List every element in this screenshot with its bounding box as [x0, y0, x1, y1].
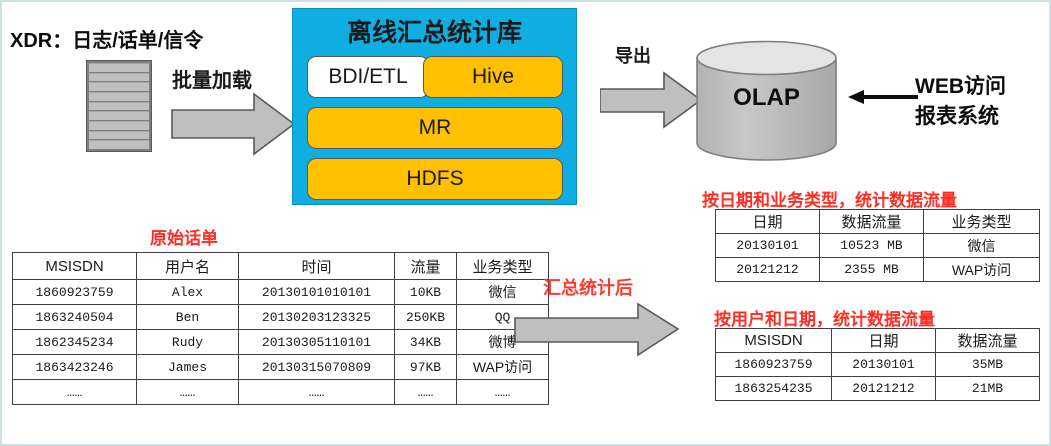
cell-time: …… — [239, 380, 395, 405]
cell-service: 微信 — [457, 280, 549, 305]
table-row: 20130101 10523 MB 微信 — [716, 234, 1040, 258]
cell-service: 微信 — [924, 234, 1040, 258]
cell-traffic: …… — [395, 380, 457, 405]
cell-username: Alex — [137, 280, 239, 305]
component-hdfs[interactable]: HDFS — [307, 158, 563, 200]
web-access-line-2: 报表系统 — [915, 102, 1006, 132]
column-header-service: 业务类型 — [457, 253, 549, 280]
table-row-ellipsis: …… …… …… …… …… — [13, 380, 549, 405]
platform-title: 离线汇总统计库 — [293, 13, 576, 49]
cell-time: 20130305110101 — [239, 330, 395, 355]
export-arrow — [600, 70, 704, 132]
cell-username: Ben — [137, 305, 239, 330]
component-hive[interactable]: Hive — [423, 56, 563, 98]
web-access-arrow-icon — [848, 86, 920, 108]
web-access-label: WEB访问 报表系统 — [915, 72, 1006, 132]
table-header-row: MSISDN 日期 数据流量 — [716, 329, 1040, 353]
cell-date: 20121212 — [716, 258, 820, 282]
cell-service: WAP访问 — [457, 355, 549, 380]
table-row: 1862345234 Rudy 20130305110101 34KB 微博 — [13, 330, 549, 355]
table-header-row: MSISDN 用户名 时间 流量 业务类型 — [13, 253, 549, 280]
cell-msisdn: 1860923759 — [13, 280, 137, 305]
cell-date: 20130101 — [716, 234, 820, 258]
raw-cdr-caption: 原始话单 — [150, 224, 218, 249]
cell-date: 20121212 — [832, 377, 936, 401]
cell-traffic: 21MB — [936, 377, 1040, 401]
cell-traffic: 10KB — [395, 280, 457, 305]
cell-time: 20130203123325 — [239, 305, 395, 330]
cell-service: WAP访问 — [924, 258, 1040, 282]
table-row: 1860923759 Alex 20130101010101 10KB 微信 — [13, 280, 549, 305]
cell-msisdn: 1863240504 — [13, 305, 137, 330]
summarize-label: 汇总统计后 — [543, 274, 633, 300]
column-header-username: 用户名 — [137, 253, 239, 280]
page-title: XDR：日志/话单/信令 — [10, 24, 203, 53]
cell-traffic: 2355 MB — [820, 258, 924, 282]
component-mr[interactable]: MR — [307, 107, 563, 149]
cell-msisdn: …… — [13, 380, 137, 405]
diagram-canvas: XDR：日志/话单/信令 批量加载 离线汇总统计库 BDI/ETL Hive M… — [0, 0, 1051, 446]
cell-date: 20130101 — [832, 353, 936, 377]
cell-time: 20130315070809 — [239, 355, 395, 380]
table-row: 1863254235 20121212 21MB — [716, 377, 1040, 401]
cell-msisdn: 1862345234 — [13, 330, 137, 355]
cell-traffic: 250KB — [395, 305, 457, 330]
column-header-msisdn: MSISDN — [716, 329, 832, 353]
web-access-line-1: WEB访问 — [915, 72, 1006, 102]
document-stack-icon — [86, 60, 152, 152]
table-row: 1863240504 Ben 20130203123325 250KB QQ — [13, 305, 549, 330]
olap-label: OLAP — [695, 84, 838, 112]
column-header-traffic: 流量 — [395, 253, 457, 280]
cell-traffic: 35MB — [936, 353, 1040, 377]
raw-cdr-table: MSISDN 用户名 时间 流量 业务类型 1860923759 Alex 20… — [12, 252, 549, 405]
batch-load-arrow — [170, 90, 298, 158]
summary-by-date-table: 日期 数据流量 业务类型 20130101 10523 MB 微信 201212… — [715, 209, 1040, 282]
table-row: 1860923759 20130101 35MB — [716, 353, 1040, 377]
column-header-traffic: 数据流量 — [820, 210, 924, 234]
table-row: 1863423246 James 20130315070809 97KB WAP… — [13, 355, 549, 380]
column-header-time: 时间 — [239, 253, 395, 280]
table-row: 20121212 2355 MB WAP访问 — [716, 258, 1040, 282]
cell-msisdn: 1860923759 — [716, 353, 832, 377]
column-header-date: 日期 — [832, 329, 936, 353]
summary-by-user-caption: 按用户和日期，统计数据流量 — [714, 305, 935, 330]
cell-traffic: 97KB — [395, 355, 457, 380]
export-label: 导出 — [615, 42, 651, 68]
column-header-service: 业务类型 — [924, 210, 1040, 234]
summary-by-user-table: MSISDN 日期 数据流量 1860923759 20130101 35MB … — [715, 328, 1040, 401]
cell-msisdn: 1863423246 — [13, 355, 137, 380]
column-header-msisdn: MSISDN — [13, 253, 137, 280]
table-header-row: 日期 数据流量 业务类型 — [716, 210, 1040, 234]
cell-time: 20130101010101 — [239, 280, 395, 305]
column-header-traffic: 数据流量 — [936, 329, 1040, 353]
summarize-arrow — [514, 302, 680, 358]
summary-by-date-caption: 按日期和业务类型，统计数据流量 — [702, 186, 957, 211]
cell-service: …… — [457, 380, 549, 405]
component-bdi-etl[interactable]: BDI/ETL — [307, 56, 429, 98]
cell-traffic: 10523 MB — [820, 234, 924, 258]
cell-msisdn: 1863254235 — [716, 377, 832, 401]
cell-traffic: 34KB — [395, 330, 457, 355]
column-header-date: 日期 — [716, 210, 820, 234]
batch-load-label: 批量加载 — [172, 64, 252, 93]
cell-username: Rudy — [137, 330, 239, 355]
cell-username: …… — [137, 380, 239, 405]
olap-database-cylinder: OLAP — [695, 40, 838, 161]
cell-username: James — [137, 355, 239, 380]
offline-summary-platform-box: 离线汇总统计库 BDI/ETL Hive MR HDFS — [292, 8, 577, 205]
